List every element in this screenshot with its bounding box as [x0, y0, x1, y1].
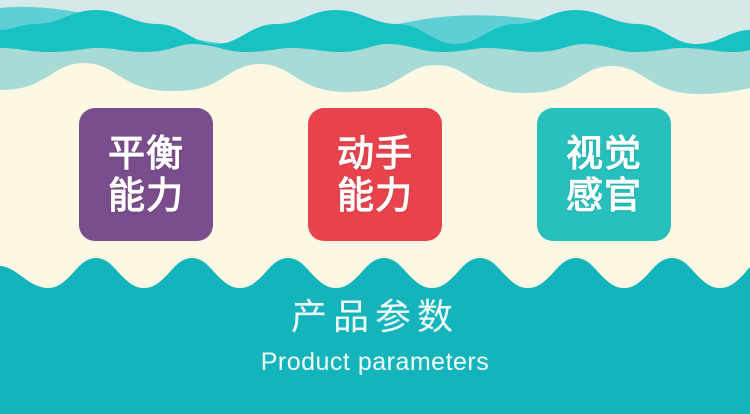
feature-card-vision-line1: 视觉 [566, 133, 642, 175]
feature-card-hands-on-line2: 能力 [337, 175, 413, 217]
page-title-en: Product parameters [0, 345, 750, 379]
feature-card-vision-line2: 感官 [566, 175, 642, 217]
footer-text-block: 产品参数 Product parameters [0, 295, 750, 379]
page-title-cn: 产品参数 [0, 295, 750, 339]
feature-card-balance-line1: 平衡 [108, 133, 184, 175]
feature-card-vision[interactable]: 视觉 感官 [537, 108, 671, 241]
feature-card-balance-line2: 能力 [108, 175, 184, 217]
product-parameters-banner: 平衡 能力 动手 能力 视觉 感官 产品参数 Product parameter… [0, 0, 750, 414]
feature-card-hands-on[interactable]: 动手 能力 [308, 108, 442, 241]
feature-card-balance[interactable]: 平衡 能力 [79, 108, 213, 241]
top-background [0, 0, 750, 100]
feature-card-hands-on-line1: 动手 [337, 133, 413, 175]
feature-cards-row: 平衡 能力 动手 能力 视觉 感官 [0, 108, 750, 242]
